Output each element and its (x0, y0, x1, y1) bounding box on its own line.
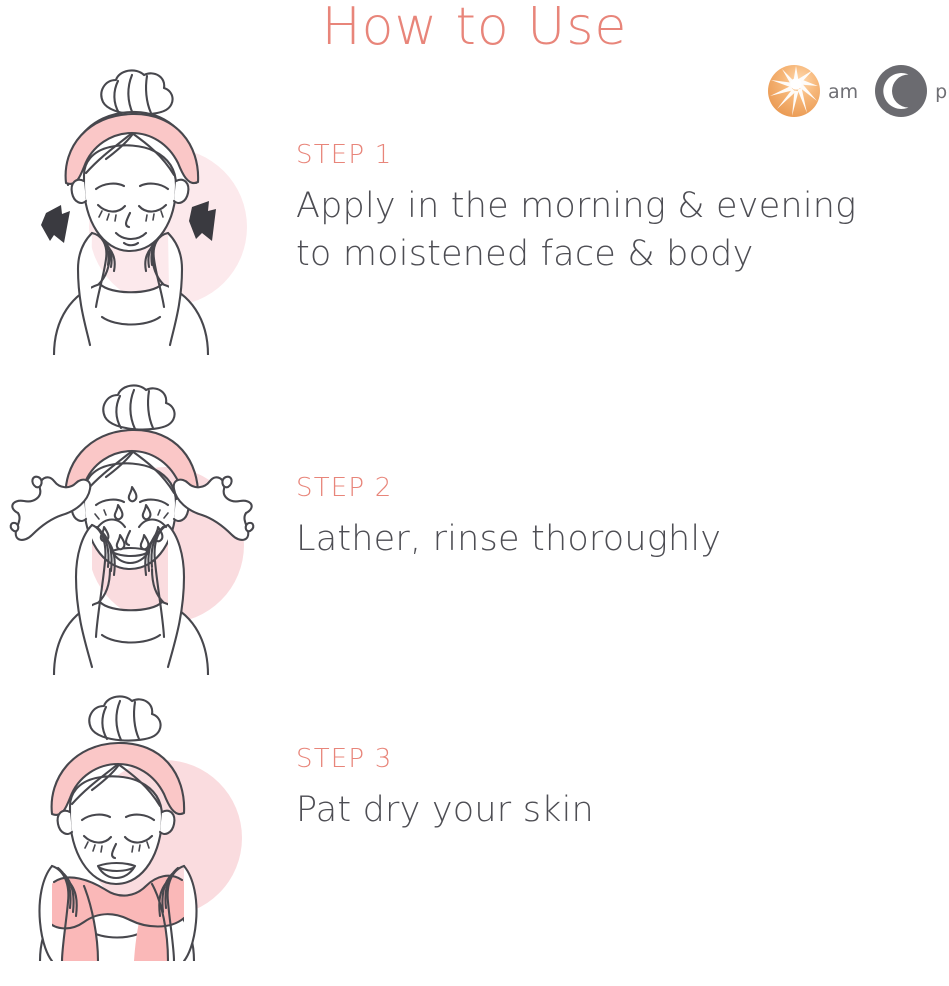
page-title: How to Use (0, 0, 949, 60)
step-row-1: STEP 1 Apply in the morning & evening to… (0, 55, 949, 355)
step-kicker-3: STEP 3 (296, 744, 594, 774)
illustration-step-2 (6, 375, 258, 675)
step-row-3: STEP 3 Pat dry your skin (0, 686, 949, 986)
step-text-2: STEP 2 Lather, rinse thoroughly (296, 473, 721, 563)
step-text-3: STEP 3 Pat dry your skin (296, 744, 594, 834)
arrow-up-left (41, 205, 70, 243)
step-body-3: Pat dry your skin (296, 786, 594, 834)
step-body-1: Apply in the morning & evening to moiste… (296, 182, 856, 278)
step-text-1: STEP 1 Apply in the morning & evening to… (296, 140, 856, 278)
step-kicker-2: STEP 2 (296, 473, 721, 503)
illustration-step-1 (6, 55, 258, 355)
step-row-2: STEP 2 Lather, rinse thoroughly (0, 375, 949, 675)
step-kicker-1: STEP 1 (296, 140, 856, 170)
illustration-step-3 (6, 686, 258, 961)
step-body-2: Lather, rinse thoroughly (296, 515, 721, 563)
